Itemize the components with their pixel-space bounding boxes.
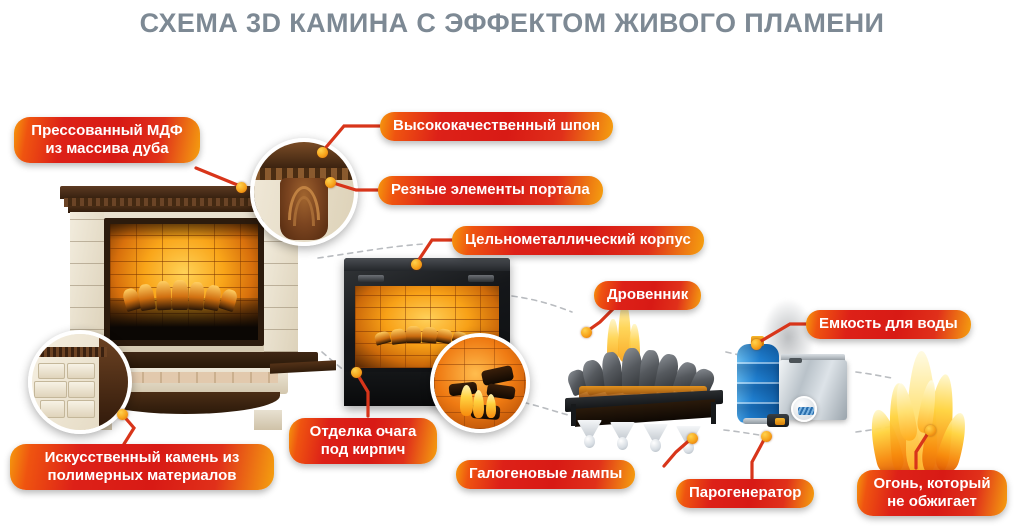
callout-artificial-stone[interactable]: Искусственный камень из полимерных матер… xyxy=(10,444,274,490)
callout-line-1: Дровенник xyxy=(607,286,688,304)
leader-dot xyxy=(117,409,128,420)
callout-line-1: Прессованный МДФ xyxy=(27,122,187,140)
callout-line-1: Отделка очага xyxy=(302,423,424,441)
callout-hearth-brick-finish[interactable]: Отделка очага под кирпич xyxy=(289,418,437,464)
callout-line-1: Галогеновые лампы xyxy=(469,465,622,483)
leader-dot xyxy=(687,433,698,444)
callout-high-quality-veneer[interactable]: Высококачественный шпон xyxy=(380,112,613,141)
callout-line-1: Емкость для воды xyxy=(819,315,958,333)
callout-line-1: Резные элементы портала xyxy=(391,181,590,199)
callout-line-1: Парогенератор xyxy=(689,484,801,502)
leader-dot xyxy=(411,259,422,270)
leader-dot xyxy=(925,425,936,436)
leader-dot xyxy=(317,147,328,158)
callout-all-metal-body[interactable]: Цельнометаллический корпус xyxy=(452,226,704,255)
callout-pressed-mdf[interactable]: Прессованный МДФ из массива дуба xyxy=(14,117,200,163)
callout-line-2: под кирпич xyxy=(302,441,424,459)
callout-carved-portal-elements[interactable]: Резные элементы портала xyxy=(378,176,603,205)
leader-dot xyxy=(325,177,336,188)
callout-line-1: Высококачественный шпон xyxy=(393,117,600,135)
callout-line-1: Огонь, который xyxy=(870,475,994,493)
leader-dot xyxy=(236,182,247,193)
callout-fire-that-does-not-burn[interactable]: Огонь, который не обжигает xyxy=(857,470,1007,516)
callout-line-1: Искусственный камень из xyxy=(23,449,261,467)
leader-dot xyxy=(761,431,772,442)
callout-halogen-lamps[interactable]: Галогеновые лампы xyxy=(456,460,635,489)
callout-line-2: полимерных материалов xyxy=(23,467,261,485)
callout-log-holder[interactable]: Дровенник xyxy=(594,281,701,310)
callout-steam-generator[interactable]: Парогенератор xyxy=(676,479,814,508)
callout-line-2: из массива дуба xyxy=(27,140,187,158)
callout-line-1: Цельнометаллический корпус xyxy=(465,231,691,249)
callout-line-2: не обжигает xyxy=(870,493,994,511)
leader-dot xyxy=(751,339,762,350)
leader-dot xyxy=(351,367,362,378)
leader-dot xyxy=(581,327,592,338)
callout-water-container[interactable]: Емкость для воды xyxy=(806,310,971,339)
infographic-canvas: СХЕМА 3D КАМИНА С ЭФФЕКТОМ ЖИВОГО ПЛАМЕН… xyxy=(0,0,1024,532)
